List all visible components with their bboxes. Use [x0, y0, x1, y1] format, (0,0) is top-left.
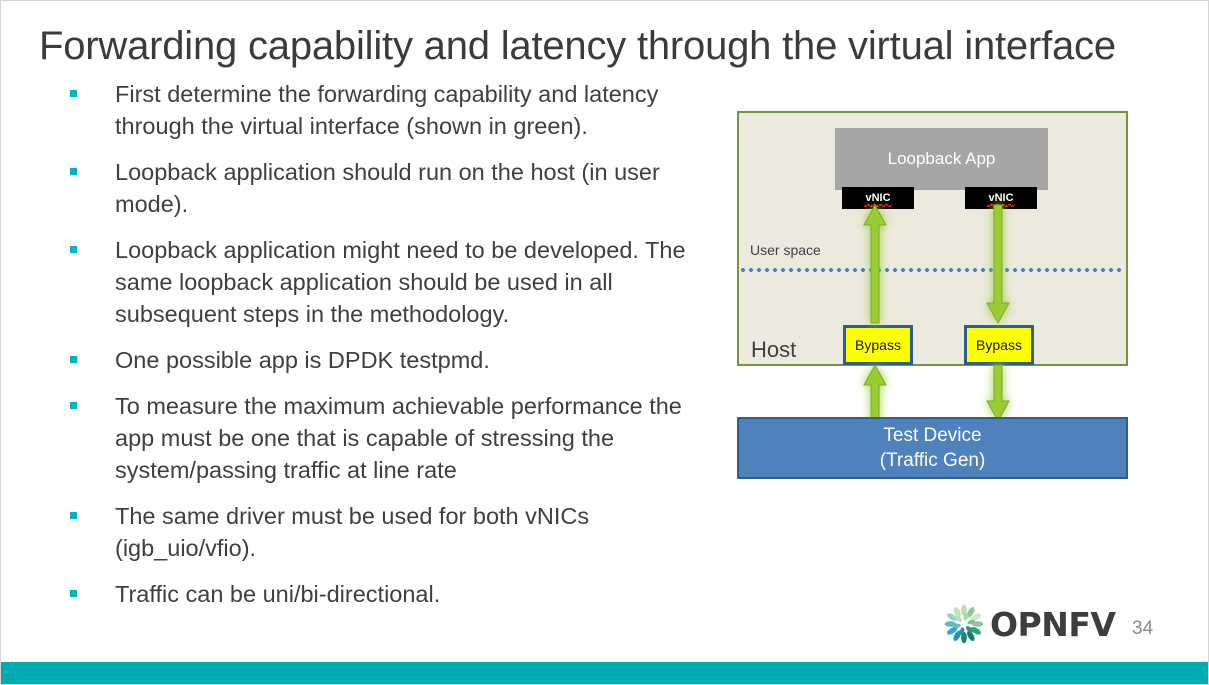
architecture-diagram: Loopback App vNIC vNIC User space Host B… — [737, 111, 1130, 481]
opnfv-logo: OPNFV — [942, 602, 1115, 646]
bypass-label-right: Bypass — [976, 337, 1022, 353]
test-device-box: Test Device (Traffic Gen) — [737, 417, 1128, 479]
bullet-dot-icon — [70, 512, 77, 519]
bullet-dot-icon — [70, 402, 77, 409]
bypass-box-left: Bypass — [843, 325, 913, 365]
user-space-divider-line — [741, 268, 1124, 272]
bullet-dot-icon — [70, 168, 77, 175]
opnfv-wordmark: OPNFV — [990, 605, 1115, 644]
list-item: First determine the forwarding capabilit… — [63, 78, 708, 142]
list-item-text: One possible app is DPDK testpmd. — [115, 344, 708, 376]
loopback-app-box: Loopback App — [835, 128, 1048, 190]
list-item-text: Loopback application might need to be de… — [115, 234, 708, 330]
list-item-text: Traffic can be uni/bi-directional. — [115, 578, 708, 610]
bullet-dot-icon — [70, 90, 77, 97]
bullet-dot-icon — [70, 356, 77, 363]
list-item-text: To measure the maximum achievable perfor… — [115, 390, 708, 486]
list-item-text: First determine the forwarding capabilit… — [115, 78, 708, 142]
bullet-marker — [63, 234, 115, 253]
traffic-arrow-down-outer-icon — [984, 363, 1012, 423]
bullet-marker — [63, 78, 115, 97]
user-space-label: User space — [750, 242, 821, 258]
slide-number: 34 — [1132, 618, 1153, 640]
test-device-line1: Test Device — [883, 423, 981, 448]
host-label: Host — [751, 337, 796, 363]
loopback-app-label: Loopback App — [888, 149, 996, 169]
list-item: Traffic can be uni/bi-directional. — [63, 578, 708, 610]
list-item: To measure the maximum achievable perfor… — [63, 390, 708, 486]
opnfv-petal-logo-icon — [942, 602, 986, 646]
list-item-text: The same driver must be used for both vN… — [115, 500, 708, 564]
bypass-box-right: Bypass — [964, 325, 1034, 365]
presentation-slide: Forwarding capability and latency throug… — [0, 0, 1209, 685]
footer-accent-bar — [1, 662, 1208, 684]
host-boundary-box: Loopback App vNIC vNIC User space Host B… — [737, 111, 1128, 366]
bullet-marker — [63, 156, 115, 175]
list-item-text: Loopback application should run on the h… — [115, 156, 708, 220]
list-item: The same driver must be used for both vN… — [63, 500, 708, 564]
list-item: Loopback application should run on the h… — [63, 156, 708, 220]
bypass-label-left: Bypass — [855, 337, 901, 353]
page-title: Forwarding capability and latency throug… — [39, 21, 1149, 71]
traffic-arrow-up-outer-icon — [861, 363, 889, 423]
bullet-list: First determine the forwarding capabilit… — [63, 78, 708, 624]
bullet-marker — [63, 500, 115, 519]
list-item: Loopback application might need to be de… — [63, 234, 708, 330]
bullet-marker — [63, 578, 115, 597]
traffic-arrow-down-inner-icon — [984, 203, 1012, 325]
bullet-marker — [63, 390, 115, 409]
list-item: One possible app is DPDK testpmd. — [63, 344, 708, 376]
bullet-dot-icon — [70, 590, 77, 597]
bullet-marker — [63, 344, 115, 363]
test-device-line2: (Traffic Gen) — [880, 448, 986, 473]
bullet-dot-icon — [70, 246, 77, 253]
traffic-arrow-up-inner-icon — [861, 203, 889, 325]
